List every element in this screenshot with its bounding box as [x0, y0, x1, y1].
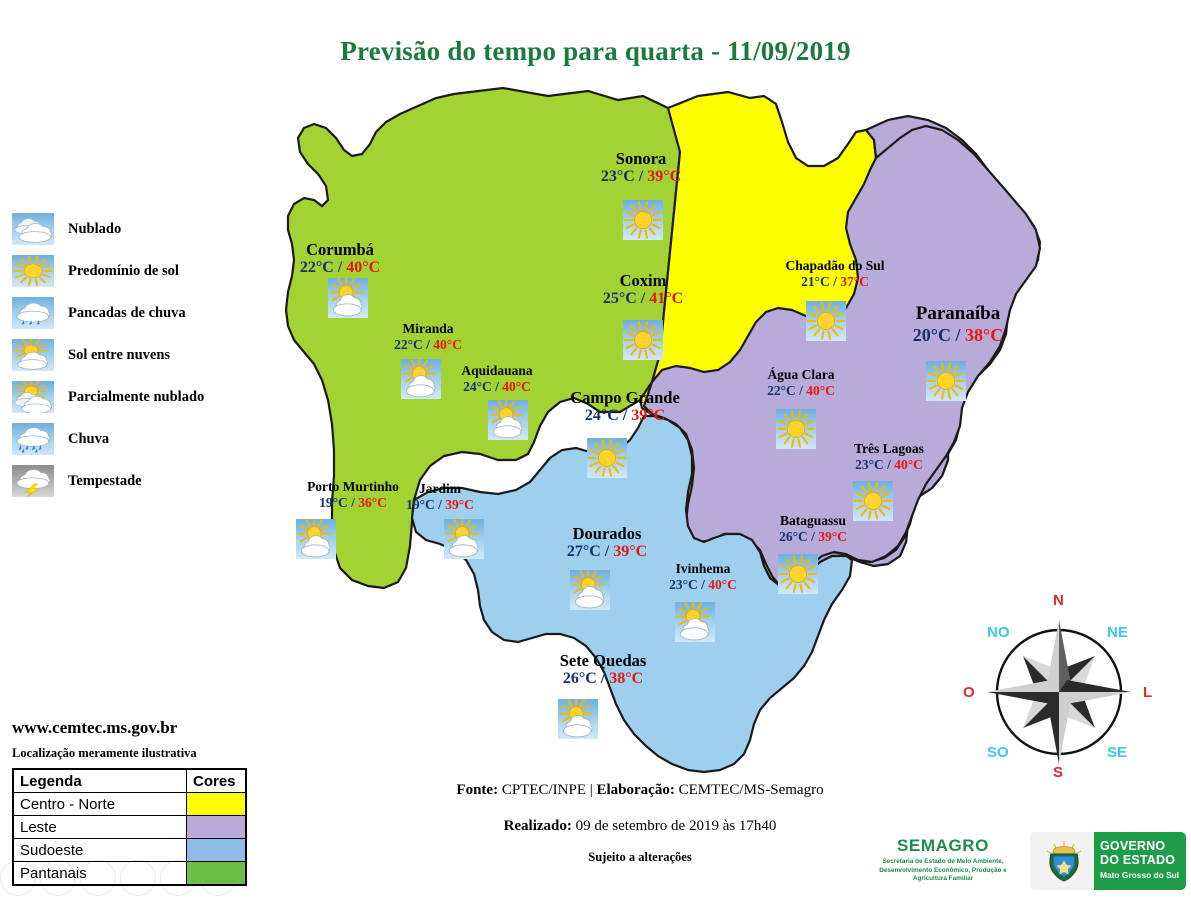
city-temps: 20°C / 38°C	[878, 325, 1038, 346]
city-temps: 24°C / 39°C	[530, 407, 720, 425]
legend-label: Nublado	[68, 221, 121, 238]
governo-estado-logo: GOVERNO DO ESTADO Mato Grosso do Sul	[1030, 832, 1186, 890]
legend-row-sun-behind-cloud: Sol entre nuvens	[12, 334, 262, 376]
temp-min: 20°C	[913, 325, 951, 345]
temp-min: 19°C	[406, 497, 435, 512]
gov-line-1: GOVERNO	[1100, 839, 1186, 853]
illustrative-note: Localização meramente ilustrativa	[12, 746, 197, 761]
city-coxim: Coxim25°C / 41°C	[578, 272, 708, 308]
icon-corumba	[328, 278, 368, 318]
city-temps: 25°C / 41°C	[578, 290, 708, 308]
icon-ivinhema	[675, 602, 715, 642]
legend-table-row: Sudoeste	[13, 839, 246, 862]
temp-max: 39°C	[445, 497, 474, 512]
temp-max: 40°C	[502, 379, 531, 394]
region-legend-table: Legenda Cores Centro - NorteLesteSudoest…	[12, 768, 247, 886]
city-name: Ivinhema	[638, 562, 768, 577]
compass-label-o: O	[963, 684, 975, 701]
sun-icon	[12, 255, 54, 287]
legend-label: Pancadas de chuva	[68, 305, 186, 322]
temp-max: 37°C	[840, 274, 869, 289]
temp-max: 39°C	[647, 168, 681, 185]
legend-row-partly-cloudy: Parcialmente nublado	[12, 376, 262, 418]
city-name: Campo Grande	[530, 389, 720, 407]
rain-showers-icon	[12, 297, 54, 329]
temp-min: 27°C	[567, 543, 601, 560]
temp-min: 22°C	[300, 259, 334, 276]
sun-behind-cloud-icon	[12, 339, 54, 371]
compass-rose: N S O L NO NE SO SE	[963, 592, 1155, 784]
temp-max: 40°C	[806, 383, 835, 398]
temp-separator: /	[635, 168, 647, 185]
temp-max: 40°C	[433, 337, 462, 352]
footer-source-value: CPTEC/INPE |	[498, 782, 596, 798]
temp-min: 25°C	[603, 290, 637, 307]
semagro-logo: SEMAGRO Secretaria de Estado de Meio Amb…	[868, 836, 1018, 884]
footer-source-label: Fonte:	[456, 782, 498, 798]
city-tres-lagoas: Três Lagoas23°C / 40°C	[824, 442, 954, 472]
legend-label: Chuva	[68, 431, 109, 448]
temp-min: 23°C	[601, 168, 635, 185]
legend-table-row: Pantanais	[13, 862, 246, 886]
legend-body: Centro - NorteLesteSudoestePantanais	[13, 793, 246, 886]
compass-label-se: SE	[1107, 744, 1127, 761]
footer-done-value: 09 de setembro de 2019 às 17h40	[572, 818, 777, 834]
rain-icon	[12, 423, 54, 455]
temp-separator: /	[435, 497, 446, 512]
icon-paranaiba	[926, 361, 966, 401]
footer-done: Realizado: 09 de setembro de 2019 às 17h…	[330, 818, 950, 835]
compass-label-s: S	[1053, 764, 1063, 781]
city-sete-quedas: Sete Quedas26°C / 38°C	[518, 652, 688, 688]
weather-map: Corumbá22°C / 40°C Miranda22°C / 40°C Aq…	[248, 82, 1048, 782]
legend-color-swatch	[187, 816, 247, 839]
city-temps: 22°C / 40°C	[736, 383, 866, 399]
legend-table-row: Leste	[13, 816, 246, 839]
temp-max: 40°C	[894, 457, 923, 472]
city-campo-grande: Campo Grande24°C / 39°C	[530, 389, 720, 425]
temp-separator: /	[597, 670, 609, 687]
legend-header-legenda: Legenda	[13, 769, 187, 793]
city-temps: 22°C / 40°C	[270, 259, 410, 277]
compass-label-l: L	[1143, 684, 1152, 701]
temp-separator: /	[619, 407, 631, 424]
temp-separator: /	[637, 290, 649, 307]
temp-min: 22°C	[767, 383, 796, 398]
city-name: Sonora	[576, 150, 706, 168]
temp-max: 39°C	[613, 543, 647, 560]
city-temps: 26°C / 39°C	[748, 529, 878, 545]
temp-separator: /	[601, 543, 613, 560]
compass-label-ne: NE	[1107, 624, 1128, 641]
compass-label-n: N	[1053, 592, 1064, 609]
semagro-name: SEMAGRO	[868, 836, 1018, 856]
legend-color-swatch	[187, 793, 247, 816]
legend-row-cloudy: Nublado	[12, 208, 262, 250]
city-jardim: Jardim19°C / 39°C	[380, 482, 500, 512]
footer-made-value: CEMTEC/MS-Semagro	[675, 782, 824, 798]
temp-min: 23°C	[669, 577, 698, 592]
footer-done-label: Realizado:	[504, 818, 572, 834]
gov-line-3: Mato Grosso do Sul	[1100, 870, 1186, 880]
icon-campo-grande	[587, 438, 627, 478]
icon-bataguassu	[778, 554, 818, 594]
page-title: Previsão do tempo para quarta - 11/09/20…	[0, 36, 1191, 67]
icon-miranda	[401, 359, 441, 399]
city-temps: 26°C / 38°C	[518, 670, 688, 688]
icon-coxim	[623, 320, 663, 360]
legend-region-label: Centro - Norte	[13, 793, 187, 816]
city-temps: 23°C / 40°C	[824, 457, 954, 473]
temp-separator: /	[884, 457, 895, 472]
temp-min: 21°C	[801, 274, 830, 289]
footer-source: Fonte: CPTEC/INPE | Elaboração: CEMTEC/M…	[330, 782, 950, 799]
temp-max: 40°C	[708, 577, 737, 592]
legend-color-swatch	[187, 839, 247, 862]
temp-separator: /	[698, 577, 709, 592]
temp-min: 24°C	[585, 407, 619, 424]
city-temps: 19°C / 39°C	[380, 497, 500, 513]
icon-porto-murtinho	[296, 519, 336, 559]
cloudy-icon	[12, 213, 54, 245]
compass-label-so: SO	[987, 744, 1009, 761]
city-dourados: Dourados27°C / 39°C	[532, 525, 682, 561]
temp-min: 22°C	[394, 337, 423, 352]
city-name: Jardim	[380, 482, 500, 497]
icon-jardim	[444, 519, 484, 559]
city-name: Aquidauana	[432, 364, 562, 379]
temp-separator: /	[808, 529, 819, 544]
partly-cloudy-icon	[12, 381, 54, 413]
semagro-subtitle: Secretaria de Estado de Meio Ambiente, D…	[868, 858, 1018, 884]
legend-label: Parcialmente nublado	[68, 389, 204, 406]
legend-row-sun: Predomínio de sol	[12, 250, 262, 292]
temp-separator: /	[796, 383, 807, 398]
city-agua-clara: Água Clara22°C / 40°C	[736, 368, 866, 398]
temp-separator: /	[423, 337, 434, 352]
legend-header-cores: Cores	[187, 769, 247, 793]
city-temps: 23°C / 40°C	[638, 577, 768, 593]
temp-separator: /	[951, 325, 965, 345]
temp-min: 26°C	[779, 529, 808, 544]
temp-max: 39°C	[631, 407, 665, 424]
temp-separator: /	[492, 379, 503, 394]
legend-region-label: Leste	[13, 816, 187, 839]
temp-separator: /	[830, 274, 841, 289]
city-name: Corumbá	[270, 241, 410, 259]
city-name: Dourados	[532, 525, 682, 543]
icon-aquidauana	[488, 400, 528, 440]
logo-bar: SEMAGRO Secretaria de Estado de Meio Amb…	[868, 832, 1186, 894]
footer-made-label: Elaboração:	[597, 782, 675, 798]
city-paranaiba: Paranaíba20°C / 38°C	[878, 304, 1038, 345]
city-sonora: Sonora23°C / 39°C	[576, 150, 706, 186]
thunderstorm-icon	[12, 465, 54, 497]
city-name: Três Lagoas	[824, 442, 954, 457]
governo-green-block: GOVERNO DO ESTADO Mato Grosso do Sul	[1094, 832, 1186, 890]
icon-sonora	[623, 200, 663, 240]
icon-sete-quedas	[558, 699, 598, 739]
temp-separator: /	[334, 259, 346, 276]
city-name: Paranaíba	[878, 304, 1038, 325]
compass-label-no: NO	[987, 624, 1010, 641]
temp-min: 26°C	[563, 670, 597, 687]
temp-max: 40°C	[346, 259, 380, 276]
footer-disclaimer: Sujeito a alterações	[330, 850, 950, 865]
temp-min: 23°C	[855, 457, 884, 472]
legend-label: Predomínio de sol	[68, 263, 179, 280]
legend-region-label: Sudoeste	[13, 839, 187, 862]
legend-header-row: Legenda Cores	[13, 769, 246, 793]
legend-row-thunderstorm: Tempestade	[12, 460, 262, 502]
city-name: Coxim	[578, 272, 708, 290]
city-temps: 21°C / 37°C	[760, 274, 910, 290]
temp-max: 39°C	[818, 529, 847, 544]
icon-tres-lagoas	[853, 481, 893, 521]
temp-max: 38°C	[609, 670, 643, 687]
temp-max: 41°C	[649, 290, 683, 307]
city-temps: 23°C / 39°C	[576, 168, 706, 186]
city-chapadao-do-sul: Chapadão do Sul21°C / 37°C	[760, 259, 910, 289]
city-ivinhema: Ivinhema23°C / 40°C	[638, 562, 768, 592]
weather-icon-legend: Nublado Predomínio de sol Pancadas de ch…	[12, 208, 262, 502]
icon-dourados	[570, 570, 610, 610]
legend-row-rain: Chuva	[12, 418, 262, 460]
city-temps: 22°C / 40°C	[368, 337, 488, 353]
icon-agua-clara	[776, 409, 816, 449]
legend-color-swatch	[187, 862, 247, 886]
legend-label: Sol entre nuvens	[68, 347, 170, 364]
city-name: Água Clara	[736, 368, 866, 383]
city-miranda: Miranda22°C / 40°C	[368, 322, 488, 352]
temp-min: 19°C	[319, 495, 348, 510]
site-url[interactable]: www.cemtec.ms.gov.br	[12, 718, 177, 738]
city-temps: 27°C / 39°C	[532, 543, 682, 561]
icon-chapadao-do-sul	[806, 301, 846, 341]
legend-table-row: Centro - Norte	[13, 793, 246, 816]
city-name: Chapadão do Sul	[760, 259, 910, 274]
city-name: Sete Quedas	[518, 652, 688, 670]
temp-min: 24°C	[463, 379, 492, 394]
legend-region-label: Pantanais	[13, 862, 187, 886]
state-crest-icon	[1042, 839, 1086, 883]
temp-max: 38°C	[965, 325, 1003, 345]
legend-label: Tempestade	[68, 473, 142, 490]
temp-separator: /	[348, 495, 359, 510]
gov-line-2: DO ESTADO	[1100, 853, 1186, 867]
city-corumba: Corumbá22°C / 40°C	[270, 241, 410, 277]
city-name: Miranda	[368, 322, 488, 337]
legend-row-rain-showers: Pancadas de chuva	[12, 292, 262, 334]
